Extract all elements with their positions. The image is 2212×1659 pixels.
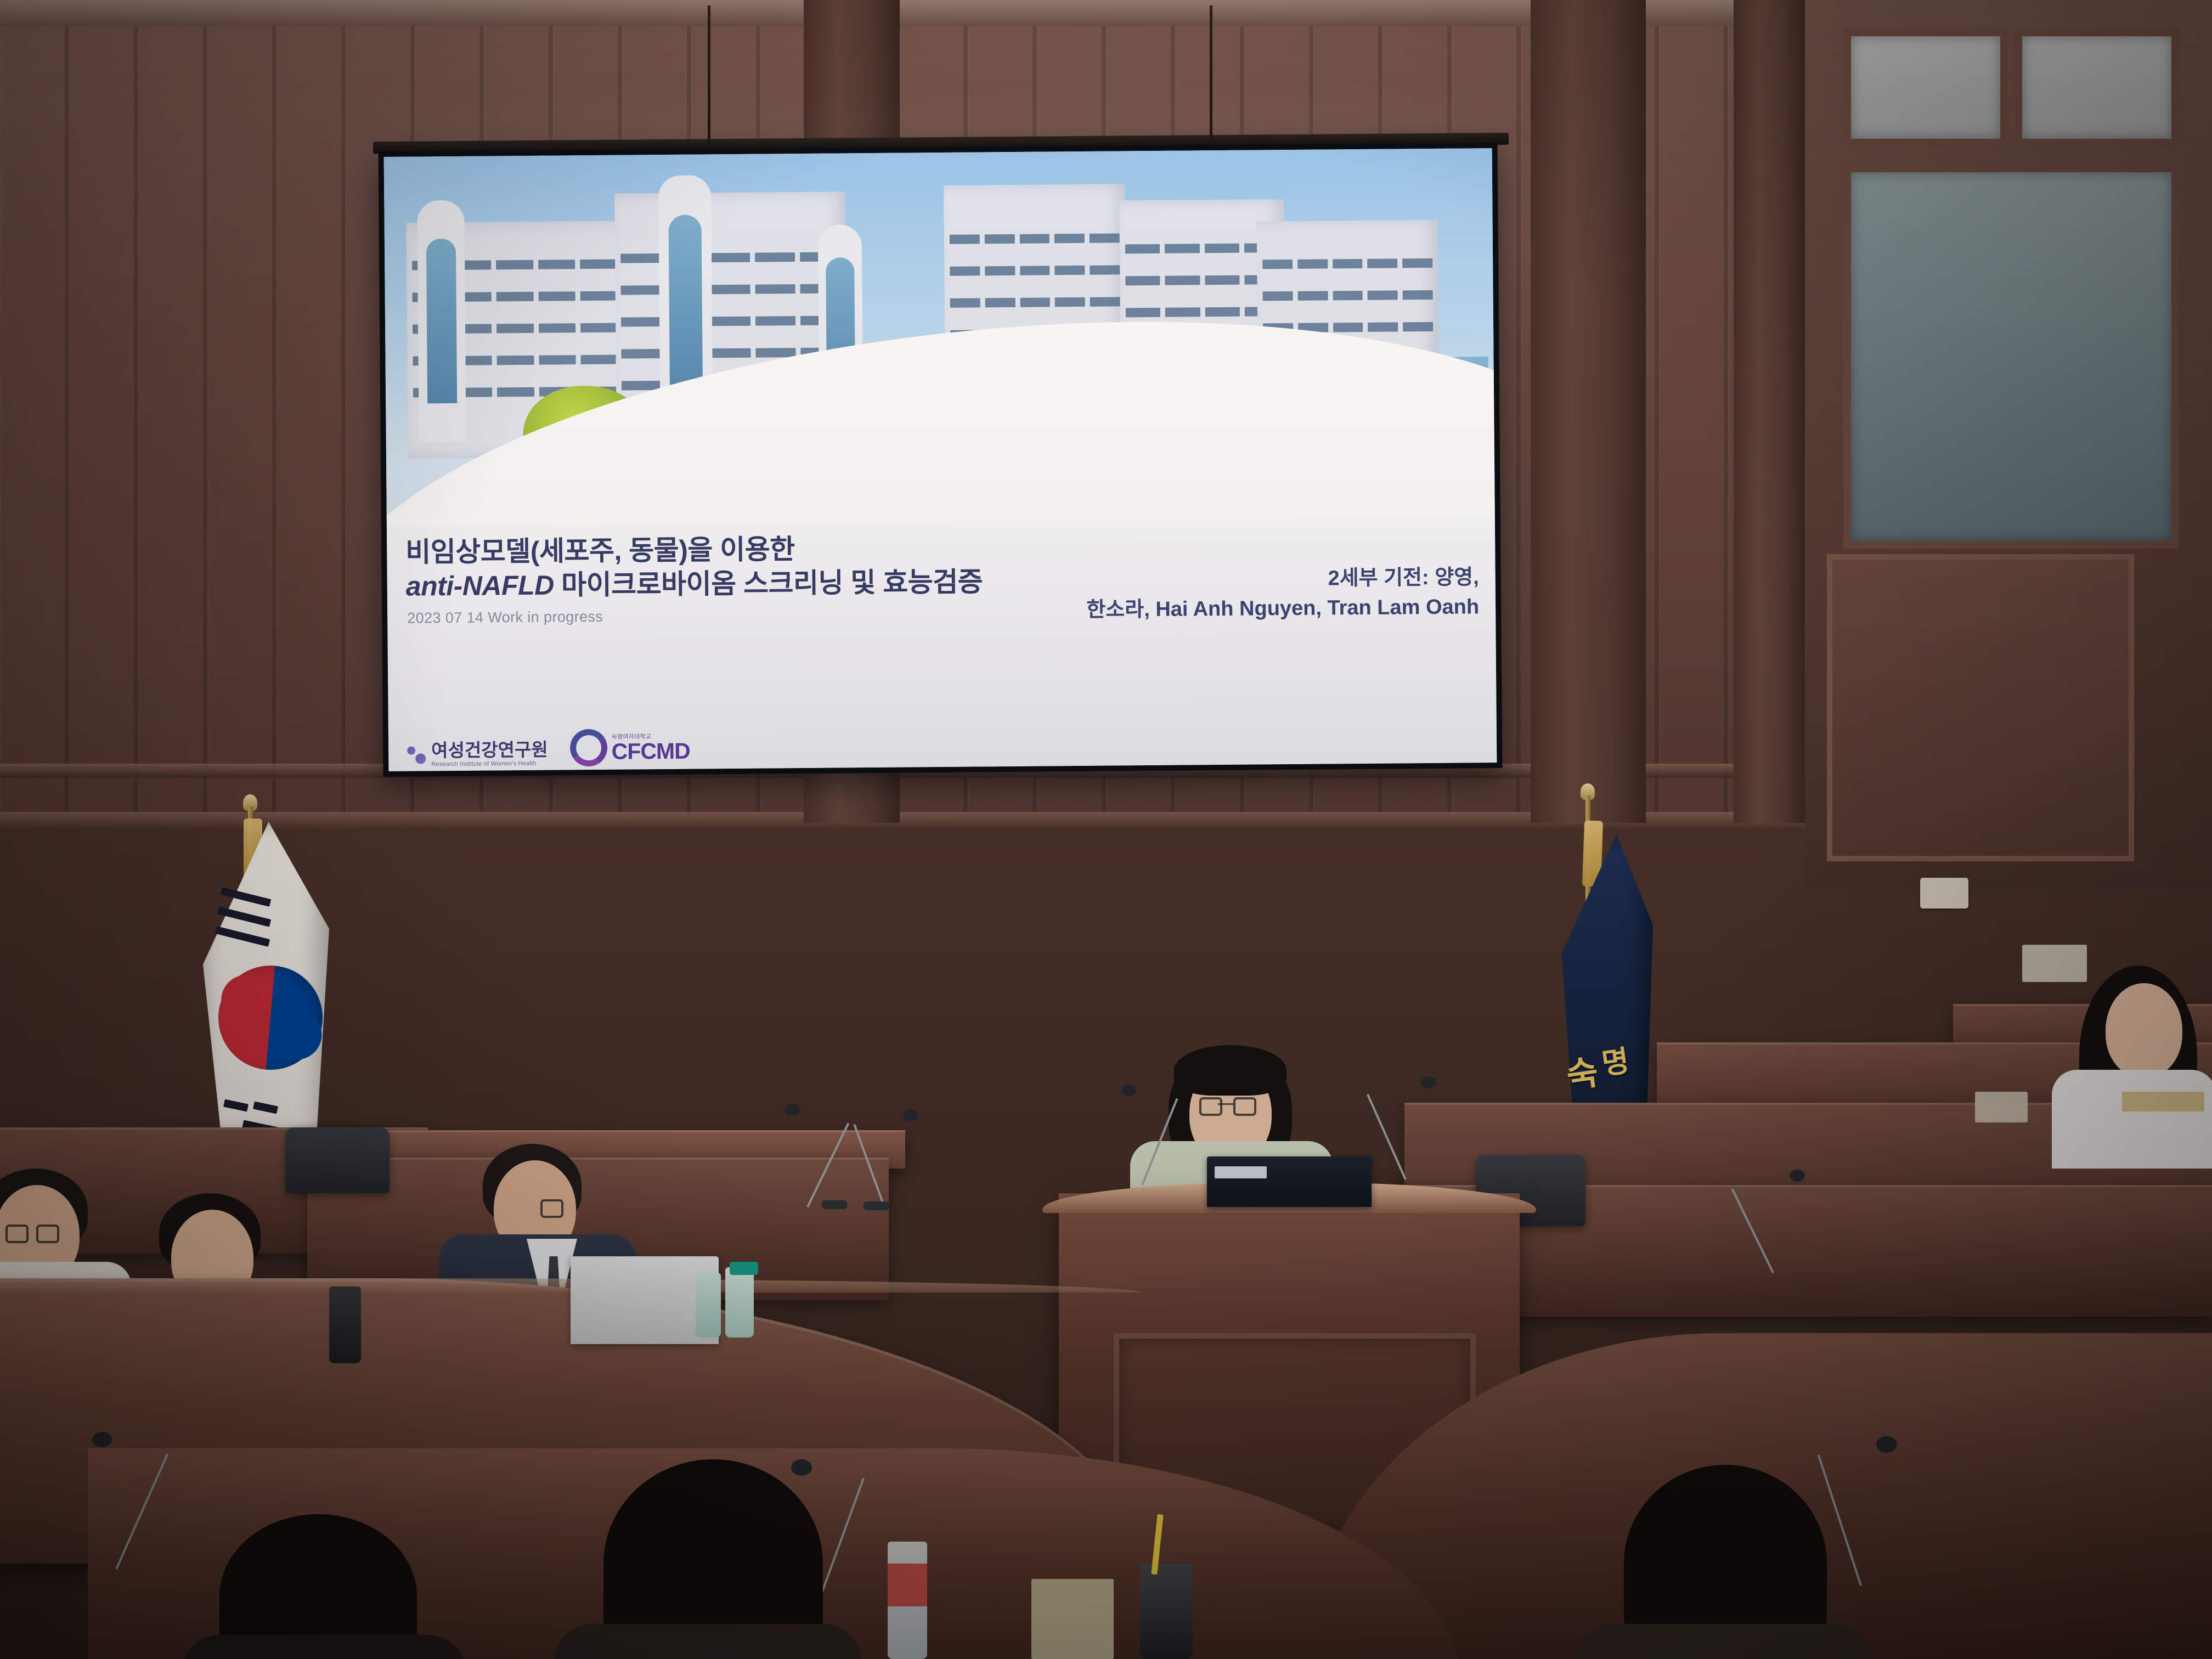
wall-pillar-right <box>1734 0 1805 823</box>
name-card <box>2122 1092 2204 1111</box>
slide-text-area: 비임상모델(세포주, 동물)을 이용한 anti-NAFLD 마이크로바이옴 스… <box>387 517 1497 771</box>
projection-screen: 비임상모델(세포주, 동물)을 이용한 anti-NAFLD 마이크로바이옴 스… <box>379 143 1503 777</box>
university-flag-mark-icon: 명 <box>1600 1047 1631 1079</box>
head <box>2106 983 2182 1077</box>
mic-head-icon <box>1790 1170 1805 1182</box>
slide: 비임상모델(세포주, 동물)을 이용한 anti-NAFLD 마이크로바이옴 스… <box>384 148 1497 771</box>
logo-riwh-english: Research Institute of Women's Health <box>431 760 548 768</box>
foreground-shoulders-center <box>554 1624 861 1659</box>
glasses-lens-left-icon <box>1199 1097 1222 1116</box>
water-bottle-2[interactable] <box>725 1267 754 1338</box>
hair-fringe <box>1174 1045 1286 1096</box>
desk-tissue-box <box>1975 1092 2028 1122</box>
glasses-lens-left-icon <box>5 1224 29 1243</box>
photo-scene: 비임상모델(세포주, 동물)을 이용한 anti-NAFLD 마이크로바이옴 스… <box>0 0 2212 1659</box>
slide-author-line1: 2세부 기전: 양영, <box>1086 563 1479 596</box>
riwh-mark-icon <box>407 745 426 764</box>
water-bottle-1[interactable] <box>696 1273 721 1338</box>
slide-logo-row: 여성건강연구원 Research Institute of Women's He… <box>407 729 690 768</box>
podium-laptop[interactable] <box>1207 1156 1372 1207</box>
screen-cable-right <box>1210 5 1212 153</box>
slide-author-line2: 한소라, Hai Anh Nguyen, Tran Lam Oanh <box>1086 592 1479 625</box>
slide-title-line2: anti-NAFLD 마이크로바이옴 스크리닝 및 효능검증 <box>406 564 1092 603</box>
cfcmd-ring-icon <box>567 726 611 770</box>
slide-title-line1: 비임상모델(세포주, 동물)을 이용한 <box>405 530 1091 569</box>
mic-head-icon <box>785 1104 800 1116</box>
glass-curtain-center <box>668 215 703 396</box>
slide-title-emphasis: anti-NAFLD <box>406 570 554 602</box>
mic-base <box>864 1201 889 1210</box>
slide-title-line2-rest: 마이크로바이옴 스크리닝 및 효능검증 <box>554 566 983 600</box>
mic-base <box>822 1200 847 1209</box>
glass-curtain-left <box>426 239 457 403</box>
foreground-shoulders-right <box>1575 1624 1871 1659</box>
foreground-shoulders-left <box>181 1635 466 1659</box>
logo-cfcmd-name: CFCMD <box>612 741 690 763</box>
torso <box>2052 1070 2212 1169</box>
screen-cable-left <box>708 5 710 149</box>
logo-riwh-korean: 여성건강연구원 <box>431 741 548 760</box>
mic-head-icon <box>92 1432 112 1447</box>
wall-plate-right <box>2022 945 2087 982</box>
thermos[interactable] <box>329 1286 361 1363</box>
mic-head-icon <box>1876 1436 1897 1453</box>
mic-head-icon <box>903 1109 918 1121</box>
logo-cfcmd: 숙명여자대학교 CFCMD <box>569 729 690 767</box>
university-flag-glyph: 숙 <box>1565 1057 1600 1093</box>
light-switch-plate[interactable] <box>1920 878 1968 909</box>
slide-authors: 2세부 기전: 양영, 한소라, Hai Anh Nguyen, Tran La… <box>1086 563 1480 625</box>
logo-riwh: 여성건강연구원 Research Institute of Women's He… <box>407 741 548 768</box>
bottle-label <box>888 1564 927 1606</box>
desk-document[interactable] <box>1031 1579 1114 1659</box>
slide-title: 비임상모델(세포주, 동물)을 이용한 anti-NAFLD 마이크로바이옴 스… <box>405 530 1092 603</box>
glasses-lens-right-icon <box>1233 1097 1256 1116</box>
window-large <box>1843 165 2179 549</box>
mic-head-icon <box>1421 1076 1436 1088</box>
chair-left[interactable] <box>285 1127 390 1193</box>
glasses-bridge-icon <box>1218 1103 1233 1105</box>
mic-head-icon <box>791 1459 812 1476</box>
mic-head-icon <box>1121 1084 1137 1096</box>
glasses-lens-right-icon <box>36 1224 59 1243</box>
slide-campus-photo <box>384 148 1495 538</box>
window-pane-top-left <box>1843 29 2008 146</box>
window-pane-top-right <box>2015 29 2179 146</box>
wall-pillar-center <box>1531 0 1646 823</box>
bottle-cap <box>730 1262 758 1275</box>
foreground-cup[interactable] <box>1140 1564 1193 1659</box>
slide-date-status: 2023 07 14 Work in progress <box>407 608 603 627</box>
glasses-lens-icon <box>540 1199 563 1218</box>
side-door[interactable] <box>1827 554 2134 861</box>
